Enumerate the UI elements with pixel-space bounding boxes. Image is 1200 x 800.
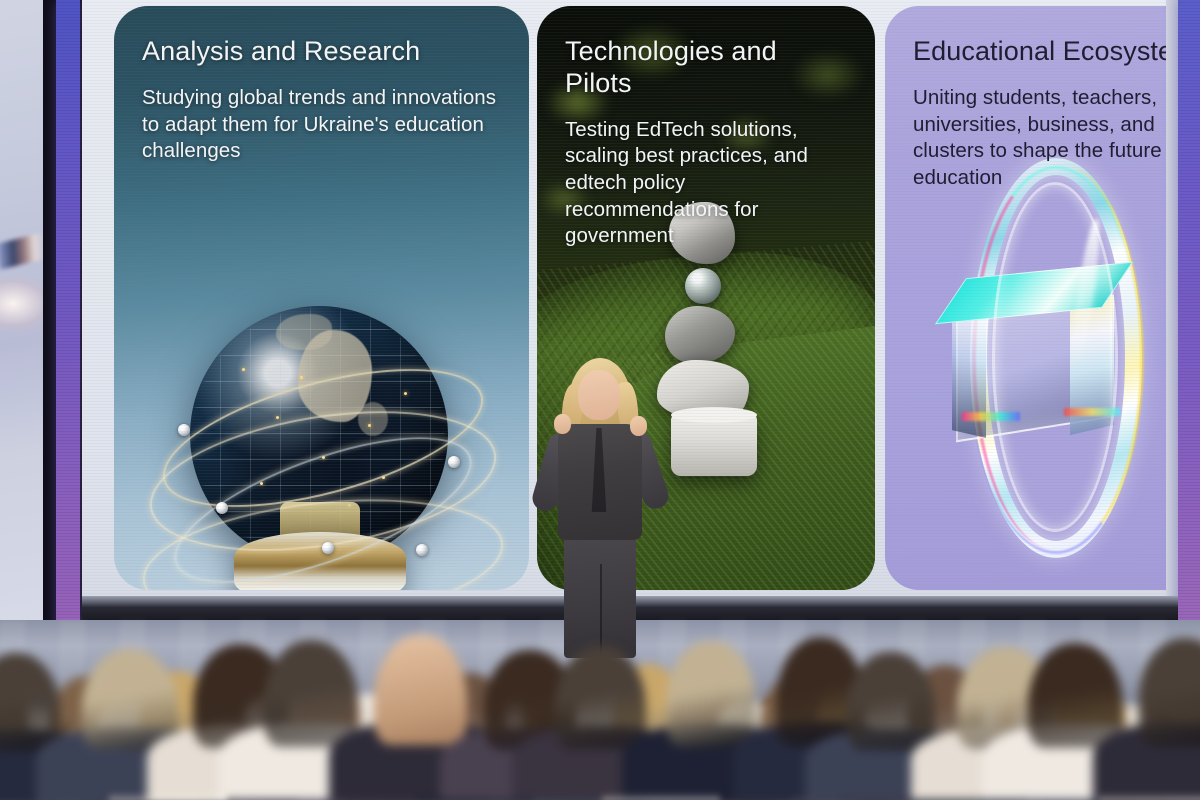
conference-stage-scene: Analysis and Research Studying global tr… [0,0,1200,800]
speaker-hand-right [630,416,647,436]
stage-frame-gap-left [43,0,56,665]
speaker-hand-left [554,414,571,434]
card2-title: Technologies and Pilots [565,36,847,100]
led-panel-far-left [0,0,43,660]
screen-right-bezel [1166,0,1178,612]
audience-head [0,653,60,751]
card3-title: Educational Ecosystem [913,36,1166,68]
audience-head [666,641,756,747]
card3-body: Uniting students, teachers, universities… [913,85,1166,192]
crystal-globe-icon [172,306,472,590]
audience-head [555,646,646,749]
audience-head [847,652,935,751]
card-educational-ecosystem[interactable]: Educational Ecosystem Uniting students, … [885,6,1166,590]
card2-body: Testing EdTech solutions, scaling best p… [565,117,847,250]
card1-body: Studying global trends and innovations t… [142,85,501,165]
audience-front-rows [0,660,1200,800]
led-strip-left [56,0,80,672]
audience-head [82,649,178,750]
glass-torus-cube-icon [952,158,1160,558]
card-analysis-and-research[interactable]: Analysis and Research Studying global tr… [114,6,529,590]
card1-title: Analysis and Research [142,36,501,68]
speaker-head [578,370,620,420]
